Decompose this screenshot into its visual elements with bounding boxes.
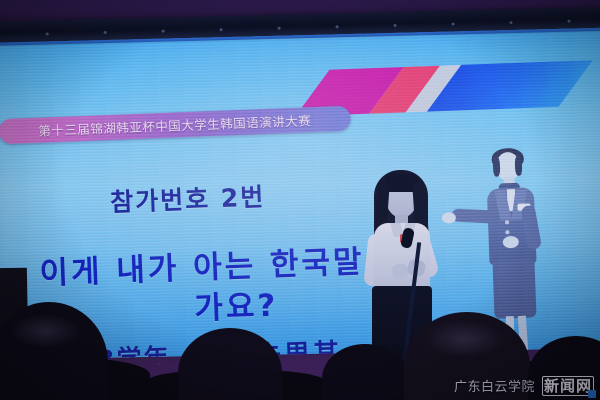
audience-head — [322, 344, 408, 400]
watermark-site-logo: 新闻网 — [542, 375, 594, 396]
entry-number-text: 참가번호 2번 — [110, 177, 266, 219]
audience-hair-highlight — [424, 320, 504, 358]
attendant-hair-right — [515, 156, 523, 176]
audience-hair-highlight — [10, 314, 80, 348]
watermark-site-logo-label: 新闻网 — [542, 376, 594, 396]
audience-head — [178, 328, 282, 400]
attendant-hair-left — [493, 156, 501, 176]
contest-banner: 第十三届锦湖韩亚杯中国大学生韩国语演讲大赛 — [0, 106, 351, 144]
watermark: 广东白云学院 新闻网 — [454, 375, 594, 396]
photograph-frame: 第十三届锦湖韩亚杯中国大学生韩国语演讲大赛 참가번호 2번 이게 내가 아는 한… — [0, 0, 600, 400]
watermark-accent-square — [588, 390, 596, 398]
watermark-university-label: 广东白云学院 — [454, 376, 535, 395]
contest-banner-label: 第十三届锦湖韩亚杯中国大学生韩国语演讲大赛 — [38, 110, 312, 139]
attendant-arm-left — [451, 208, 494, 223]
